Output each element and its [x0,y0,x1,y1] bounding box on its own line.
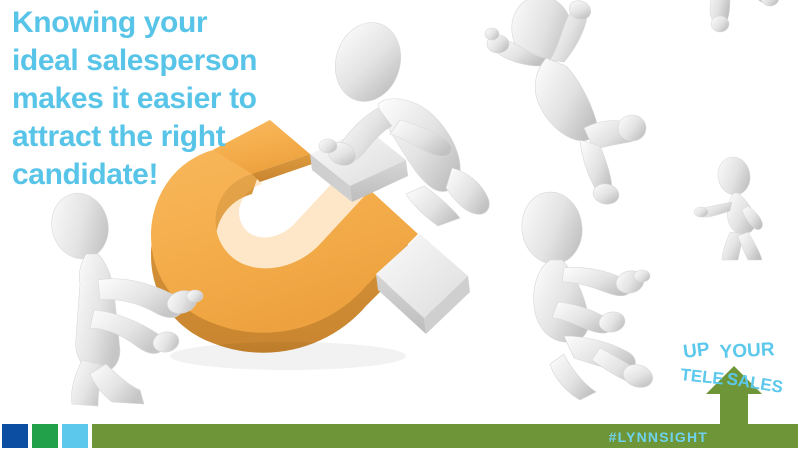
logo-wordmark: UP YOUR TELE SALES [680,339,785,397]
figure-on-magnet-top [312,4,512,234]
hashtag-label: #LYNNSIGHT [609,429,708,445]
figure-pulling-left [36,188,216,408]
figure-partial-top-right [688,0,798,66]
figure-small-right [692,152,800,262]
swatch-blue [2,424,28,448]
figure-flying-lower-center [506,186,686,406]
logo-line-1b: YOUR [719,339,775,363]
swatch-green [32,424,58,448]
slide-canvas: Knowing your ideal salesperson makes it … [0,0,800,450]
logo-line-2: TELE [680,365,725,388]
page-title: Knowing your ideal salesperson makes it … [12,4,342,194]
logo-up-your-tele-sales[interactable]: UP YOUR TELE SALES [676,336,794,428]
figure-flying-upper-right [484,0,674,210]
swatch-cyan [62,424,88,448]
logo-line-1: UP [682,339,711,363]
